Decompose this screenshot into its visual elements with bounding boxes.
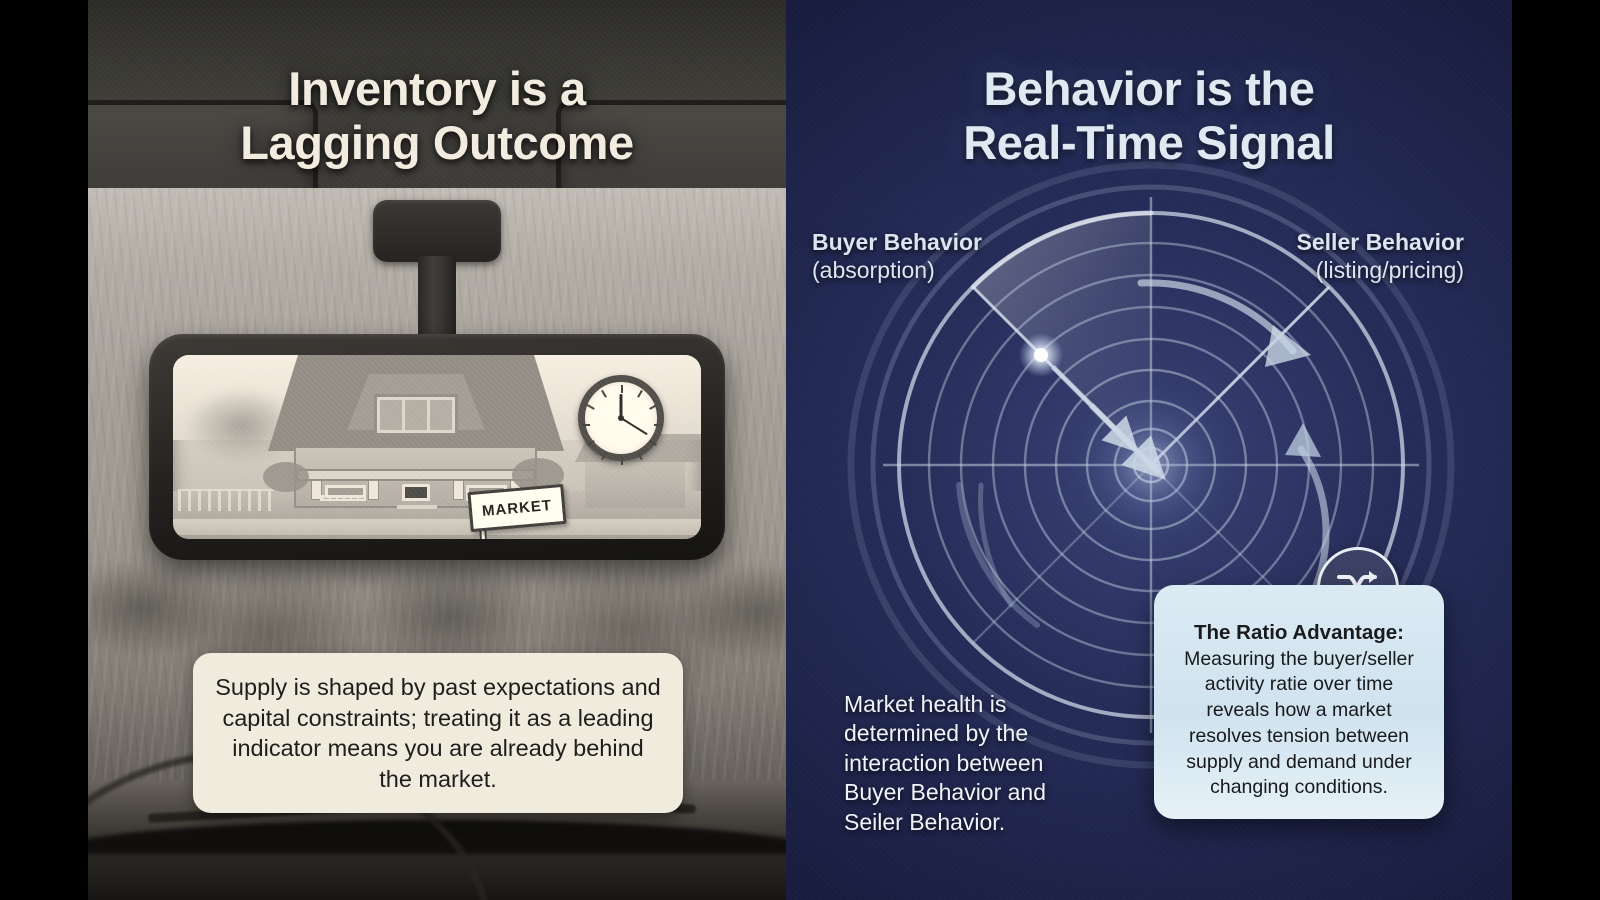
- picket-fence: [178, 489, 273, 511]
- rearview-mirror: MARKET: [149, 334, 725, 560]
- porch-column: [311, 480, 322, 500]
- mirror-mount-bracket: [373, 200, 501, 262]
- ratio-advantage-card: The Ratio Advantage: Measuring the buyer…: [1154, 585, 1444, 819]
- dormer-gable: [347, 374, 484, 430]
- craftsman-house: [284, 379, 548, 508]
- background-tree: [184, 388, 300, 465]
- chimney: [329, 361, 351, 407]
- market-sign-post: [478, 494, 488, 539]
- wall-clock-icon: [578, 375, 664, 461]
- right-title-line-1: Behavior is the: [786, 62, 1512, 116]
- dormer-window: [374, 394, 458, 436]
- roof: [268, 355, 564, 451]
- clock-tick: [587, 440, 595, 446]
- dormer-pane: [380, 400, 402, 430]
- porch-column: [453, 480, 464, 500]
- letterbox-right: [1512, 0, 1600, 900]
- neighbor-house: [585, 460, 685, 508]
- right-panel-title: Behavior is the Real-Time Signal: [786, 62, 1512, 169]
- clock-tick: [637, 452, 643, 460]
- front-door: [402, 484, 431, 501]
- clock-tick: [601, 452, 607, 460]
- dormer-pane: [430, 400, 452, 430]
- shrub: [512, 458, 564, 492]
- label-seller-behavior: Seller Behavior (listing/pricing): [1297, 228, 1464, 284]
- seller-behavior-subtitle: (listing/pricing): [1297, 256, 1464, 284]
- dormer-pane: [405, 400, 427, 430]
- clock-tick: [649, 440, 657, 446]
- left-panel-title: Inventory is a Lagging Outcome: [88, 62, 786, 169]
- porch-railing-left: [320, 495, 365, 501]
- clock-tick: [649, 404, 657, 410]
- clock-minute-hand: [621, 417, 648, 435]
- house-facade: [294, 446, 537, 508]
- radar-scope: [841, 155, 1461, 775]
- clock-tick: [621, 457, 623, 465]
- sidewalk: [173, 519, 701, 536]
- buyer-behavior-title: Buyer Behavior: [812, 228, 982, 256]
- shuffle-icon: [1317, 547, 1399, 629]
- ratio-card-heading: The Ratio Advantage:: [1194, 621, 1404, 644]
- clock-pivot: [618, 415, 624, 421]
- label-buyer-behavior: Buyer Behavior (absorption): [812, 228, 982, 284]
- infographic-canvas: MARKET Inventory is a Lagging Outcome Su…: [0, 0, 1600, 900]
- market-sign-label: MARKET: [481, 496, 552, 519]
- buyer-behavior-subtitle: (absorption): [812, 256, 982, 284]
- left-title-line-1: Inventory is a: [88, 62, 786, 116]
- front-window-left: [325, 485, 366, 498]
- clock-tick: [637, 390, 643, 398]
- left-title-line-2: Lagging Outcome: [88, 116, 786, 170]
- right-title-line-2: Real-Time Signal: [786, 116, 1512, 170]
- mirror-glass: MARKET: [173, 355, 701, 539]
- clock-tick: [654, 424, 662, 426]
- market-sign: MARKET: [467, 484, 566, 532]
- sky: [173, 355, 701, 440]
- shrub: [263, 462, 309, 492]
- seller-behavior-title: Seller Behavior: [1297, 228, 1464, 256]
- porch-railing-right: [466, 495, 511, 501]
- front-window-right: [466, 485, 507, 498]
- clock-tick: [587, 404, 595, 410]
- ratio-card-body: Measuring the buyer/seller activity rati…: [1184, 648, 1414, 799]
- clock-hour-hand: [620, 394, 623, 418]
- porch-steps: [397, 505, 438, 512]
- right-panel-behavior: Behavior is the Real-Time Signal Buyer B…: [786, 0, 1512, 900]
- porch-column: [368, 480, 379, 500]
- letterbox-left: [0, 0, 88, 900]
- left-caption-card: Supply is shaped by past expectations an…: [193, 653, 683, 813]
- clock-tick: [601, 390, 607, 398]
- clock-tick: [582, 424, 590, 426]
- market-health-text: Market health is determined by the inter…: [844, 690, 1104, 837]
- lawn: [173, 491, 701, 539]
- porch-roof: [296, 469, 535, 481]
- clock-tick: [621, 385, 623, 393]
- left-panel-inventory: MARKET Inventory is a Lagging Outcome Su…: [88, 0, 786, 900]
- porch-column: [510, 480, 521, 500]
